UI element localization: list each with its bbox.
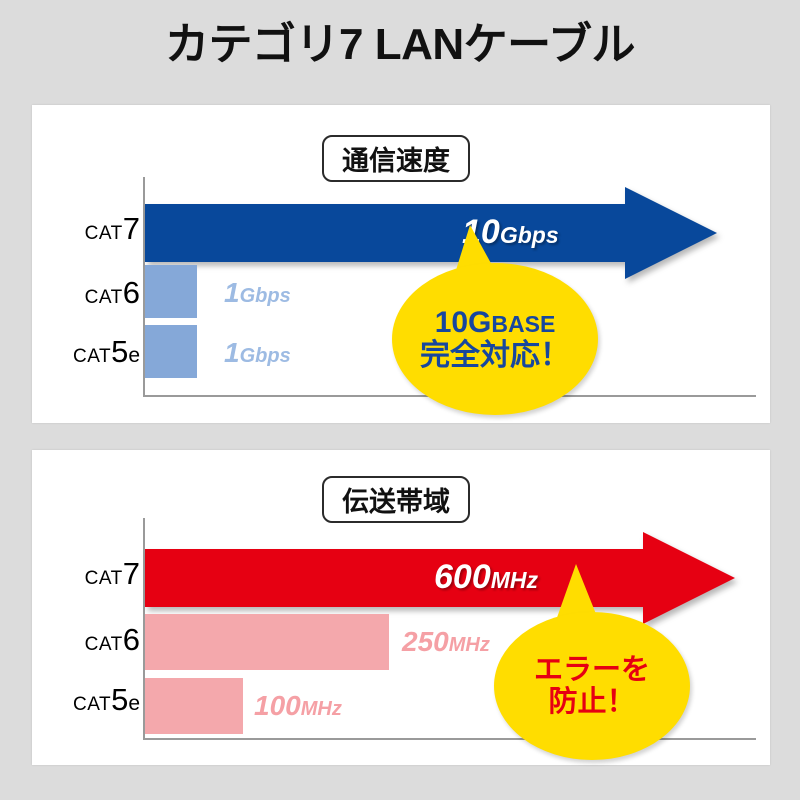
cat-number: 7	[123, 556, 140, 591]
bar-value-bandwidth-cat5e: 100MHz	[254, 692, 342, 720]
cat-prefix: CAT	[73, 694, 111, 715]
bar-speed-cat6	[145, 265, 197, 318]
section-title-speed: 通信速度	[322, 135, 470, 182]
chart-card-speed: 通信速度 CAT7 CAT6 CAT5e 10Gbps	[32, 105, 770, 423]
cat-prefix: CAT	[85, 223, 123, 244]
bar-bandwidth-cat6	[145, 614, 389, 670]
bar-speed-cat5e	[145, 325, 197, 378]
section-title-bandwidth: 伝送帯域	[322, 476, 470, 523]
value-unit: MHz	[301, 698, 342, 720]
cat-number: 5	[111, 682, 128, 717]
section-title-speed-label: 通信速度	[342, 139, 450, 178]
value-number: 600	[434, 558, 491, 596]
value-number: 1	[224, 277, 240, 308]
cat-suffix: e	[128, 344, 140, 367]
cat-prefix: CAT	[85, 568, 123, 589]
cat-number: 6	[123, 622, 140, 657]
bar-value-speed-cat5e: 1Gbps	[224, 339, 291, 367]
callout-line1-bandwidth: エラーを	[534, 655, 650, 685]
value-unit: Gbps	[240, 345, 291, 367]
bar-bandwidth-cat5e	[145, 678, 243, 734]
chart-area-speed: 通信速度 CAT7 CAT6 CAT5e 10Gbps	[32, 105, 770, 423]
value-number: 1	[224, 337, 240, 368]
callout-line1-main: 10G	[435, 306, 492, 339]
callout-bubble-bandwidth: エラーを 防止！	[494, 612, 690, 760]
cat-prefix: CAT	[85, 634, 123, 655]
bar-value-speed-cat6: 1Gbps	[224, 279, 291, 307]
callout-speed: 10GBASE 完全対応！	[392, 225, 602, 415]
chart-card-bandwidth: 伝送帯域 CAT7 CAT6 CAT5e 600MHz	[32, 450, 770, 765]
value-number: 100	[254, 690, 301, 721]
callout-line1-small: BASE	[491, 311, 555, 337]
cat-suffix: e	[128, 692, 140, 715]
chart-area-bandwidth: 伝送帯域 CAT7 CAT6 CAT5e 600MHz	[32, 450, 770, 765]
page-title: カテゴリ7 LANケーブル	[0, 22, 800, 68]
cat-prefix: CAT	[85, 287, 123, 308]
callout-bubble-speed: 10GBASE 完全対応！	[392, 263, 598, 415]
callout-line2-speed: 完全対応！	[420, 340, 570, 372]
callout-line2-bandwidth: 防止！	[548, 687, 635, 717]
bar-value-bandwidth-cat6: 250MHz	[402, 628, 490, 656]
cat-number: 6	[123, 275, 140, 310]
cat-number: 5	[111, 334, 128, 369]
value-unit: MHz	[449, 634, 490, 656]
value-unit: Gbps	[240, 285, 291, 307]
callout-line1-speed: 10GBASE	[435, 307, 556, 339]
cat-prefix: CAT	[73, 346, 111, 367]
cat-number: 7	[123, 211, 140, 246]
value-number: 250	[402, 626, 449, 657]
section-title-bandwidth-label: 伝送帯域	[342, 480, 450, 519]
callout-bandwidth: エラーを 防止！	[494, 570, 694, 760]
